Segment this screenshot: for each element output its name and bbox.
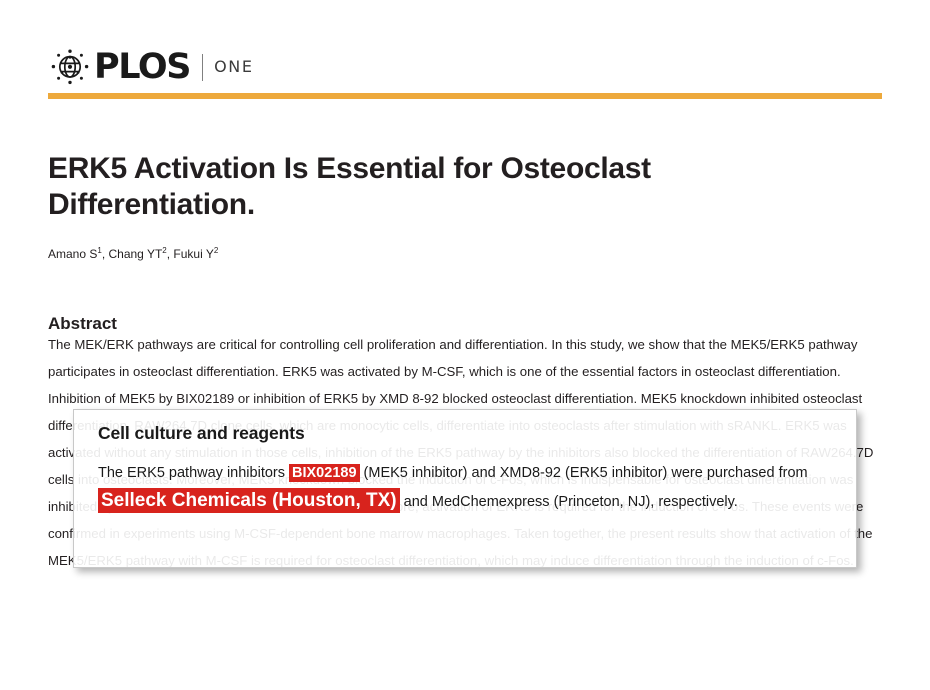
author-affiliation-2: 2 [214, 246, 218, 255]
overlay-text-2: (MEK5 inhibitor) and XMD8-92 (ERK5 inhib… [360, 465, 808, 481]
plos-globe-icon [48, 47, 92, 87]
logo-divider [202, 54, 203, 81]
author-name-0: Amano S [48, 247, 97, 261]
author-name-2: Fukui Y [173, 247, 213, 261]
highlight-bix02189: BIX02189 [289, 464, 360, 482]
journal-header: PLOS ONE [48, 44, 882, 90]
article-page: PLOS ONE ERK5 Activation Is Essential fo… [0, 0, 930, 690]
overlay-title: Cell culture and reagents [98, 423, 834, 444]
plos-one-logo[interactable]: PLOS ONE [48, 44, 882, 90]
overlay-text-4: and MedChemexpress (Princeton, NJ), resp… [400, 494, 738, 510]
page-title: ERK5 Activation Is Essential for Osteocl… [48, 151, 848, 223]
author-list: Amano S1, Chang YT2, Fukui Y2 [48, 245, 218, 263]
header-rule [48, 93, 882, 99]
overlay-text-0: The ERK5 pathway inhibitors [98, 465, 289, 481]
highlight-selleck-chemicals: Selleck Chemicals (Houston, TX) [98, 488, 400, 513]
plos-wordmark: PLOS [94, 50, 190, 85]
overlay-body: The ERK5 pathway inhibitors BIX02189 (ME… [98, 460, 834, 516]
methods-excerpt-overlay: Cell culture and reagents The ERK5 pathw… [73, 409, 857, 568]
author-name-1: Chang YT [108, 247, 162, 261]
plos-one-label: ONE [214, 59, 253, 75]
